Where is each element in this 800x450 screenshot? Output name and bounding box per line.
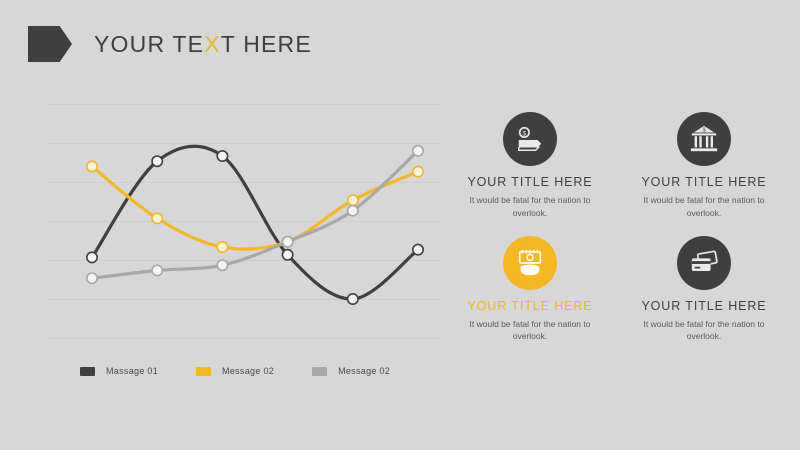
data-point-marker[interactable] <box>348 205 358 215</box>
data-point-marker[interactable] <box>348 294 358 304</box>
data-point-marker[interactable] <box>152 213 162 223</box>
feature-description: It would be fatal for the nation to over… <box>465 318 595 344</box>
credit-cards-icon <box>689 248 719 278</box>
legend-item[interactable]: Message 02 <box>312 366 390 376</box>
cash-in-hand-icon <box>515 248 545 278</box>
feature-icon-circle[interactable]: $ <box>503 112 557 166</box>
feature-icon-circle[interactable]: $ <box>677 112 731 166</box>
feature-title: YOUR TITLE HERE <box>467 175 592 189</box>
data-point-marker[interactable] <box>282 237 292 247</box>
feature-title: YOUR TITLE HERE <box>641 299 766 313</box>
feature-item[interactable]: $YOUR TITLE HEREIt would be fatal for th… <box>626 112 782 220</box>
legend-label: Message 02 <box>338 366 390 376</box>
series-line <box>92 146 418 299</box>
feature-icon-circle[interactable] <box>677 236 731 290</box>
legend-swatch <box>80 367 95 376</box>
header: YOUR TEXT HERE <box>0 22 800 66</box>
data-point-marker[interactable] <box>413 146 423 156</box>
money-in-hand-icon: $ <box>515 124 545 154</box>
feature-item[interactable]: $YOUR TITLE HEREIt would be fatal for th… <box>452 112 608 220</box>
data-point-marker[interactable] <box>282 250 292 260</box>
feature-item[interactable]: YOUR TITLE HEREIt would be fatal for the… <box>452 236 608 344</box>
feature-description: It would be fatal for the nation to over… <box>465 194 595 220</box>
data-point-marker[interactable] <box>152 265 162 275</box>
data-point-marker[interactable] <box>87 161 97 171</box>
feature-description: It would be fatal for the nation to over… <box>639 194 769 220</box>
page-title-suffix: T HERE <box>221 31 312 57</box>
page-title: YOUR TEXT HERE <box>94 31 312 58</box>
legend-label: Massage 01 <box>106 366 158 376</box>
feature-icon-circle[interactable] <box>503 236 557 290</box>
data-point-marker[interactable] <box>217 242 227 252</box>
feature-title: YOUR TITLE HERE <box>641 175 766 189</box>
series-line <box>92 151 418 278</box>
data-point-marker[interactable] <box>217 151 227 161</box>
legend-swatch <box>312 367 327 376</box>
svg-text:$: $ <box>523 130 527 137</box>
feature-grid: $YOUR TITLE HEREIt would be fatal for th… <box>452 112 782 343</box>
legend-swatch <box>196 367 211 376</box>
legend-label: Message 02 <box>222 366 274 376</box>
data-point-marker[interactable] <box>348 195 358 205</box>
legend-item[interactable]: Massage 01 <box>80 366 158 376</box>
feature-description: It would be fatal for the nation to over… <box>639 318 769 344</box>
line-chart: Massage 01Message 02Message 02 <box>24 104 440 394</box>
feature-item[interactable]: YOUR TITLE HEREIt would be fatal for the… <box>626 236 782 344</box>
page-title-highlight: X <box>204 31 221 57</box>
chart-legend: Massage 01Message 02Message 02 <box>80 366 440 376</box>
feature-title: YOUR TITLE HERE <box>467 299 592 313</box>
data-point-marker[interactable] <box>413 166 423 176</box>
data-point-marker[interactable] <box>413 244 423 254</box>
data-point-marker[interactable] <box>87 252 97 262</box>
bank-building-icon: $ <box>689 124 719 154</box>
arrow-tag-shape-icon <box>28 26 72 62</box>
data-point-marker[interactable] <box>217 260 227 270</box>
legend-item[interactable]: Message 02 <box>196 366 274 376</box>
data-point-marker[interactable] <box>87 273 97 283</box>
page-title-prefix: YOUR TE <box>94 31 204 57</box>
chart-plot-area <box>24 104 440 364</box>
data-point-marker[interactable] <box>152 156 162 166</box>
